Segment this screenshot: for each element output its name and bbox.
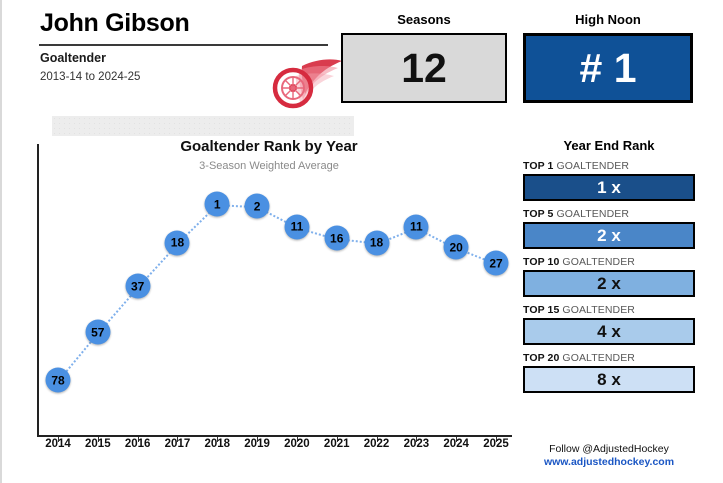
x-axis-label: 2023	[404, 438, 430, 450]
footer-follow-handle: Follow @AdjustedHockey	[523, 443, 695, 455]
rank-position-suffix: GOALTENDER	[559, 304, 635, 316]
x-axis-labels: 2014201520162017201820192020202120222023…	[26, 438, 512, 460]
x-axis-label: 2024	[443, 438, 469, 450]
player-name: John Gibson	[26, 8, 328, 38]
stat-high-noon: High Noon # 1	[523, 12, 693, 103]
x-axis-label: 2017	[165, 438, 191, 450]
rank-position-suffix: GOALTENDER	[553, 208, 629, 220]
rank-row-label: TOP 20 GOALTENDER	[523, 352, 695, 364]
player-season-span: 2013-14 to 2024-25	[40, 71, 140, 83]
player-position: Goaltender	[40, 51, 106, 65]
rank-position-suffix: GOALTENDER	[553, 160, 629, 172]
high-noon-value: # 1	[523, 33, 693, 103]
x-axis-label: 2016	[125, 438, 151, 450]
rank-count-bar: 1 x	[523, 174, 695, 201]
chart-data-point[interactable]: 16	[324, 226, 349, 251]
rank-row: TOP 20 GOALTENDER8 x	[523, 352, 695, 393]
x-axis-label: 2015	[85, 438, 111, 450]
y-axis-line	[37, 144, 39, 436]
footer-website-link[interactable]: www.adjustedhockey.com	[523, 456, 695, 468]
name-divider	[39, 44, 328, 46]
rank-row-label: TOP 5 GOALTENDER	[523, 208, 695, 220]
chart-data-point[interactable]: 27	[484, 251, 509, 276]
x-axis-label: 2022	[364, 438, 390, 450]
chart-data-point[interactable]: 1	[205, 192, 230, 217]
rank-count-bar: 4 x	[523, 318, 695, 345]
chart-plot-area: 7857371812111618112027	[26, 144, 512, 436]
rank-row: TOP 15 GOALTENDER4 x	[523, 304, 695, 345]
rank-by-year-chart: Goaltender Rank by Year 3-Season Weighte…	[26, 136, 512, 466]
chart-data-point[interactable]: 18	[364, 230, 389, 255]
stat-seasons: Seasons 12	[341, 12, 507, 103]
chart-data-point[interactable]: 78	[46, 368, 71, 393]
rank-threshold: TOP 5	[523, 208, 553, 220]
x-axis-label: 2018	[204, 438, 230, 450]
rank-row-label: TOP 15 GOALTENDER	[523, 304, 695, 316]
chart-data-point[interactable]: 20	[444, 235, 469, 260]
header-texture-strip	[52, 116, 354, 136]
high-noon-title: High Noon	[523, 12, 693, 27]
chart-data-point[interactable]: 57	[85, 320, 110, 345]
chart-data-point[interactable]: 18	[165, 230, 190, 255]
rank-count-bar: 8 x	[523, 366, 695, 393]
rank-row-label: TOP 1 GOALTENDER	[523, 160, 695, 172]
x-axis-label: 2014	[45, 438, 71, 450]
rank-position-suffix: GOALTENDER	[559, 352, 635, 364]
rank-threshold: TOP 1	[523, 160, 553, 172]
rank-position-suffix: GOALTENDER	[559, 256, 635, 268]
chart-data-point[interactable]: 11	[284, 214, 309, 239]
rank-threshold: TOP 20	[523, 352, 559, 364]
rank-row: TOP 5 GOALTENDER2 x	[523, 208, 695, 249]
year-end-rank-title: Year End Rank	[523, 138, 695, 153]
x-axis-label: 2021	[324, 438, 350, 450]
year-end-rank-panel: Year End Rank TOP 1 GOALTENDER1 xTOP 5 G…	[523, 138, 695, 400]
rank-threshold: TOP 10	[523, 256, 559, 268]
rank-count-bar: 2 x	[523, 270, 695, 297]
rank-count-bar: 2 x	[523, 222, 695, 249]
red-wings-logo-icon	[272, 56, 346, 114]
rank-threshold: TOP 15	[523, 304, 559, 316]
x-axis-label: 2025	[483, 438, 509, 450]
page-left-edge	[0, 0, 2, 483]
rank-row-label: TOP 10 GOALTENDER	[523, 256, 695, 268]
x-axis-label: 2020	[284, 438, 310, 450]
chart-data-point[interactable]: 2	[245, 194, 270, 219]
rank-row: TOP 10 GOALTENDER2 x	[523, 256, 695, 297]
footer: Follow @AdjustedHockey www.adjustedhocke…	[523, 443, 695, 468]
chart-data-point[interactable]: 37	[125, 274, 150, 299]
seasons-value: 12	[341, 33, 507, 103]
x-axis-label: 2019	[244, 438, 270, 450]
player-header-card: John Gibson Goaltender 2013-14 to 2024-2…	[26, 8, 328, 128]
seasons-title: Seasons	[341, 12, 507, 27]
x-axis-line	[37, 435, 512, 437]
chart-data-point[interactable]: 11	[404, 214, 429, 239]
rank-row: TOP 1 GOALTENDER1 x	[523, 160, 695, 201]
